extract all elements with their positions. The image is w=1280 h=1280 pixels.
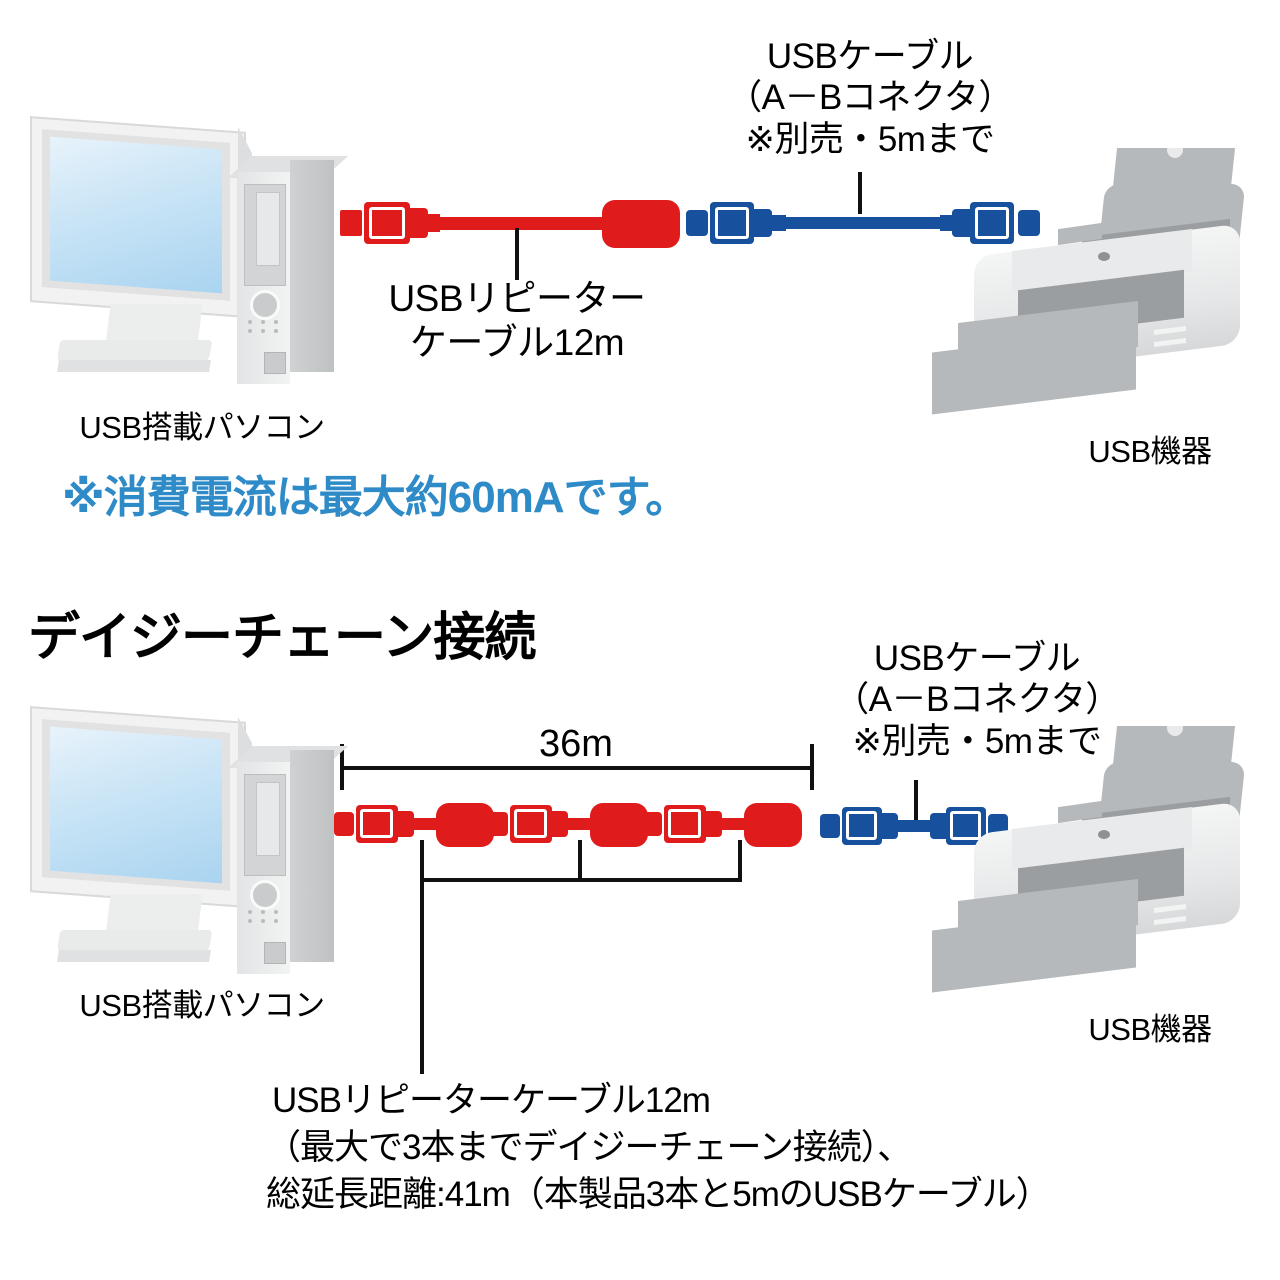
usb-plug-tip-left bbox=[686, 210, 708, 236]
leader-line-usb-top bbox=[858, 172, 862, 214]
repeater-chain-2 bbox=[488, 800, 648, 856]
current-consumption-note: ※消費電流は最大約60mAです。 bbox=[62, 472, 688, 524]
monitor-screen bbox=[50, 727, 222, 884]
repeater-chain-1 bbox=[334, 800, 494, 856]
pc-label-top: USB搭載パソコン bbox=[52, 410, 352, 447]
bracket-tick-3 bbox=[738, 840, 742, 880]
indicator-dots bbox=[248, 320, 282, 342]
pc-tower-side bbox=[290, 750, 334, 962]
usb-wire-top bbox=[784, 217, 942, 229]
usb-repeater-cable-top bbox=[340, 196, 680, 256]
repeater-wire bbox=[436, 217, 608, 230]
daisy-chain-heading: デイジーチェーン接続 bbox=[28, 608, 535, 669]
repeater-chain-3 bbox=[642, 800, 802, 856]
repeater-module bbox=[744, 803, 802, 847]
repeater-module bbox=[436, 803, 494, 847]
pc-label-bottom: USB搭載パソコン bbox=[52, 988, 352, 1025]
dimension-label-36m: 36m bbox=[486, 722, 666, 767]
front-port-cover bbox=[264, 352, 286, 374]
computer-illustration-bottom bbox=[24, 702, 354, 1002]
repeater-plug-window bbox=[668, 809, 701, 838]
repeater-plug-tip bbox=[340, 210, 362, 236]
bracket-span bbox=[420, 878, 742, 882]
monitor-base-shadow bbox=[57, 360, 211, 372]
daisy-chain-footnote-line3: 総延長距離:41m（本製品3本と5mのUSBケーブル） bbox=[266, 1172, 1050, 1219]
usb-plug-tip-left bbox=[820, 814, 840, 838]
repeater-plug-tip bbox=[488, 812, 508, 836]
bracket-stem bbox=[420, 878, 424, 1074]
usb-plug-window-left bbox=[846, 811, 877, 840]
usb-cable-label-top: USBケーブル （A－Bコネクタ） ※別売・5mまで bbox=[700, 36, 1040, 160]
usb-plug-neck-left bbox=[752, 209, 772, 237]
repeater-plug-window bbox=[360, 809, 393, 838]
drive-slot bbox=[256, 192, 280, 266]
bracket-tick-1 bbox=[420, 840, 424, 880]
monitor-base-shadow bbox=[57, 950, 211, 962]
front-port-cover bbox=[264, 942, 286, 964]
drive-slot bbox=[256, 782, 280, 856]
printer-cover-button[interactable] bbox=[1098, 830, 1110, 839]
repeater-plug-tip bbox=[642, 812, 662, 836]
diagram-canvas: USBケーブル （A－Bコネクタ） ※別売・5mまで USBリピーター ケーブル… bbox=[0, 0, 1280, 1280]
leader-line-repeater-top bbox=[515, 228, 519, 280]
repeater-plug-window bbox=[369, 207, 405, 239]
printer-illustration-top bbox=[930, 140, 1270, 430]
repeater-module bbox=[590, 803, 648, 847]
pc-tower-side bbox=[290, 160, 334, 372]
leader-line-usb-bottom bbox=[914, 780, 918, 820]
usb-cable-label-bottom: USBケーブル （A－Bコネクタ） ※別売・5mまで bbox=[812, 638, 1142, 762]
repeater-plug-window bbox=[514, 809, 547, 838]
power-button[interactable] bbox=[250, 290, 280, 320]
repeater-cable-label-top: USBリピーター ケーブル12m bbox=[352, 277, 682, 364]
repeater-plug-tip bbox=[334, 812, 354, 836]
printer-cover-button[interactable] bbox=[1098, 252, 1110, 261]
power-button[interactable] bbox=[250, 880, 280, 910]
usb-plug-window-left bbox=[715, 207, 749, 239]
repeater-plug-neck bbox=[408, 208, 428, 238]
monitor-screen bbox=[50, 137, 222, 294]
usb-device-label-top: USB機器 bbox=[1046, 434, 1254, 471]
indicator-dots bbox=[248, 910, 282, 932]
bracket-tick-2 bbox=[578, 840, 582, 880]
computer-illustration-top bbox=[24, 112, 354, 412]
dimension-line bbox=[340, 766, 814, 770]
usb-device-label-bottom: USB機器 bbox=[1046, 1012, 1254, 1049]
daisy-chain-footnote-line1: USBリピーターケーブル12m bbox=[272, 1078, 710, 1125]
repeater-module bbox=[602, 200, 680, 248]
daisy-chain-footnote-line2: （最大で3本までデイジーチェーン接続）、 bbox=[266, 1125, 911, 1172]
usb-wire-bottom bbox=[896, 820, 934, 832]
